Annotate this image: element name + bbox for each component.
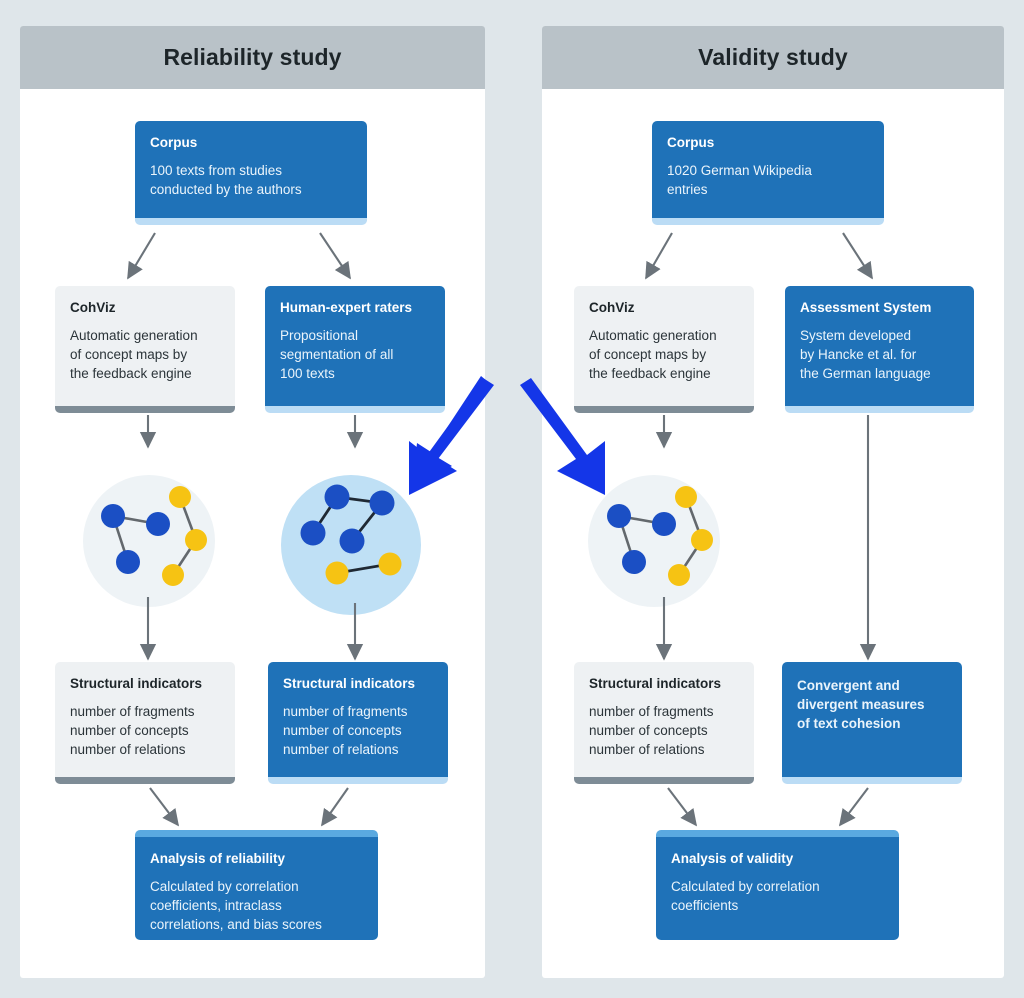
reliability-study-header: Reliability study: [20, 26, 485, 89]
validity-indicators-left-box[interactable]: Structural indicators number of fragment…: [574, 662, 754, 784]
reliability-corpus-box[interactable]: Corpus 100 texts from studies conducted …: [135, 121, 367, 225]
validity-study-title: Validity study: [698, 44, 848, 71]
validity-indicators-left-title: Structural indicators: [589, 676, 739, 693]
validity-measures-body: Convergent and divergent measures of tex…: [797, 676, 947, 733]
validity-analysis-box[interactable]: Analysis of validity Calculated by corre…: [656, 830, 899, 940]
validity-indicators-left-body: number of fragments number of concepts n…: [589, 702, 739, 759]
reliability-study-panel: Reliability study Corpus 100 texts from …: [20, 26, 485, 978]
reliability-raters-title: Human-expert raters: [280, 300, 430, 317]
validity-study-panel: Validity study Corpus 1020 German Wikipe…: [542, 26, 1004, 978]
reliability-corpus-title: Corpus: [150, 135, 352, 152]
reliability-raters-body: Propositional segmentation of all 100 te…: [280, 326, 430, 383]
validity-analysis-body: Calculated by correlation coefficients: [671, 877, 884, 915]
reliability-cohviz-concept-map: [83, 475, 215, 607]
validity-cohviz-concept-map: [588, 475, 720, 607]
reliability-analysis-body: Calculated by correlation coefficients, …: [150, 877, 363, 934]
reliability-cohviz-box[interactable]: CohViz Automatic generation of concept m…: [55, 286, 235, 413]
validity-study-header: Validity study: [542, 26, 1004, 89]
validity-assessment-system-body: System developed by Hancke et al. for th…: [800, 326, 959, 383]
reliability-indicators-left-box[interactable]: Structural indicators number of fragment…: [55, 662, 235, 784]
validity-measures-box[interactable]: Convergent and divergent measures of tex…: [782, 662, 962, 784]
validity-corpus-body: 1020 German Wikipedia entries: [667, 161, 869, 199]
reliability-raters-concept-map: [281, 475, 421, 615]
reliability-indicators-left-title: Structural indicators: [70, 676, 220, 693]
diagram-canvas: Reliability study Corpus 100 texts from …: [0, 0, 1024, 998]
validity-cohviz-title: CohViz: [589, 300, 739, 317]
validity-assessment-system-title: Assessment System: [800, 300, 959, 317]
reliability-analysis-title: Analysis of reliability: [150, 851, 363, 868]
reliability-indicators-left-body: number of fragments number of concepts n…: [70, 702, 220, 759]
reliability-indicators-right-body: number of fragments number of concepts n…: [283, 702, 433, 759]
validity-corpus-title: Corpus: [667, 135, 869, 152]
validity-cohviz-body: Automatic generation of concept maps by …: [589, 326, 739, 383]
reliability-indicators-right-box[interactable]: Structural indicators number of fragment…: [268, 662, 448, 784]
validity-assessment-system-box[interactable]: Assessment System System developed by Ha…: [785, 286, 974, 413]
reliability-cohviz-body: Automatic generation of concept maps by …: [70, 326, 220, 383]
reliability-corpus-body: 100 texts from studies conducted by the …: [150, 161, 352, 199]
validity-corpus-box[interactable]: Corpus 1020 German Wikipedia entries: [652, 121, 884, 225]
reliability-indicators-right-title: Structural indicators: [283, 676, 433, 693]
validity-cohviz-box[interactable]: CohViz Automatic generation of concept m…: [574, 286, 754, 413]
reliability-analysis-box[interactable]: Analysis of reliability Calculated by co…: [135, 830, 378, 940]
reliability-raters-box[interactable]: Human-expert raters Propositional segmen…: [265, 286, 445, 413]
reliability-study-title: Reliability study: [163, 44, 341, 71]
reliability-cohviz-title: CohViz: [70, 300, 220, 317]
validity-analysis-title: Analysis of validity: [671, 851, 884, 868]
